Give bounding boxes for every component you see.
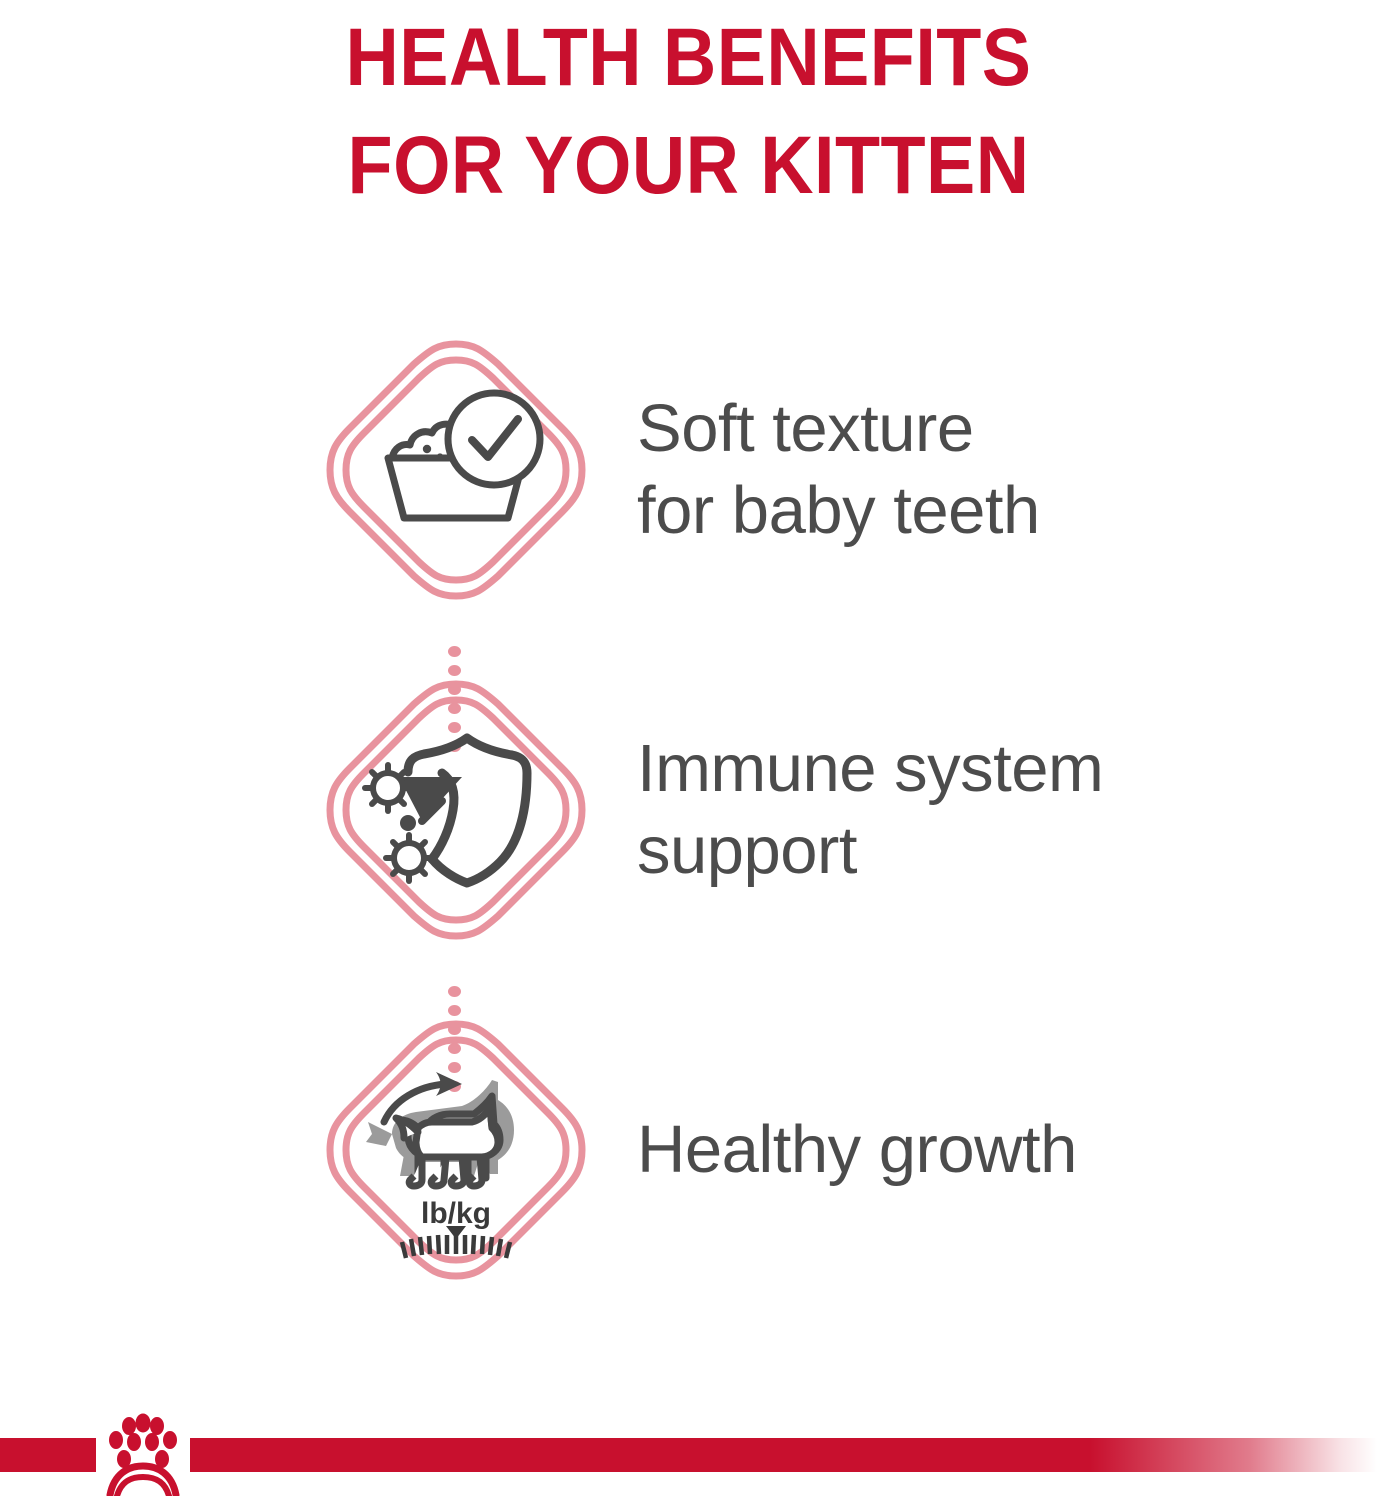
page-title-line-1: HEALTH BENEFITS (69, 4, 1308, 112)
benefit-label-immune-system: Immune system support (637, 728, 1337, 892)
footer-bar-left-segment (0, 1438, 96, 1472)
benefit-label-line-1: Healthy growth (637, 1109, 1337, 1191)
growing-cat-scale-icon: lb/kg (322, 1016, 590, 1284)
food-bowl-check-icon (322, 336, 590, 604)
footer (0, 1390, 1377, 1500)
benefit-label-line-1: Immune system (637, 728, 1337, 810)
benefits-list: Soft texture for baby teeth (0, 300, 1377, 1320)
benefit-icon-slot (320, 640, 592, 980)
page-title: HEALTH BENEFITS FOR YOUR KITTEN (69, 4, 1308, 220)
benefit-label-healthy-growth: Healthy growth (637, 1109, 1337, 1191)
benefit-item-immune-system: Immune system support (0, 640, 1377, 980)
benefit-label-line-1: Soft texture (637, 388, 1337, 470)
footer-bar-right-segment (190, 1438, 1377, 1472)
benefit-icon-slot: lb/kg (320, 980, 592, 1320)
royal-canin-crown-logo (96, 1412, 190, 1496)
benefit-item-soft-texture: Soft texture for baby teeth (0, 300, 1377, 640)
page-title-line-2: FOR YOUR KITTEN (69, 112, 1308, 220)
benefit-label-line-2: for baby teeth (637, 470, 1337, 552)
benefit-item-healthy-growth: lb/kg (0, 980, 1377, 1320)
shield-germs-icon (322, 676, 590, 944)
scale-unit-label: lb/kg (421, 1197, 491, 1230)
benefit-label-line-2: support (637, 810, 1337, 892)
benefit-label-soft-texture: Soft texture for baby teeth (637, 388, 1337, 552)
benefit-icon-slot (320, 300, 592, 640)
